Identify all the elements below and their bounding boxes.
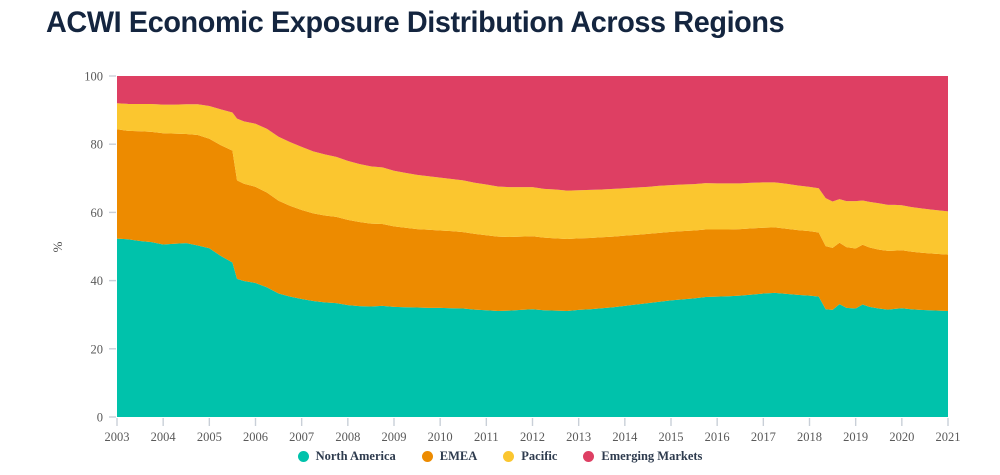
x-tick-label: 2017: [751, 430, 776, 444]
x-tick-label: 2007: [289, 430, 314, 444]
x-tick-label: 2013: [566, 430, 591, 444]
legend-item-north-america[interactable]: North America: [298, 449, 396, 464]
x-tick-label: 2012: [520, 430, 545, 444]
legend-swatch-icon: [583, 451, 594, 462]
x-tick-label: 2021: [936, 430, 961, 444]
x-tick-label: 2020: [889, 430, 914, 444]
legend-label: Emerging Markets: [601, 449, 702, 464]
x-tick-label: 2009: [382, 430, 407, 444]
x-tick-label: 2005: [197, 430, 222, 444]
legend-swatch-icon: [298, 451, 309, 462]
legend-swatch-icon: [503, 451, 514, 462]
y-tick-label: 20: [91, 342, 104, 356]
chart-areas: [117, 76, 948, 417]
x-tick-label: 2004: [151, 430, 177, 444]
legend-item-emea[interactable]: EMEA: [422, 449, 478, 464]
x-tick-label: 2019: [843, 430, 868, 444]
legend-label: North America: [316, 449, 396, 464]
legend-item-emerging-markets[interactable]: Emerging Markets: [583, 449, 702, 464]
y-tick-label: 80: [91, 138, 104, 152]
x-tick-label: 2011: [474, 430, 499, 444]
x-tick-label: 2008: [335, 430, 360, 444]
legend-swatch-icon: [422, 451, 433, 462]
stacked-area-chart: 0204060801002003200420052006200720082009…: [0, 0, 1000, 445]
x-tick-label: 2014: [612, 430, 638, 444]
x-tick-label: 2015: [659, 430, 684, 444]
x-tick-label: 2006: [243, 430, 268, 444]
x-tick-label: 2010: [428, 430, 453, 444]
y-tick-label: 100: [84, 70, 103, 84]
y-tick-label: 0: [97, 411, 103, 425]
chart-legend: North AmericaEMEAPacificEmerging Markets: [0, 449, 1000, 464]
chart-page: ACWI Economic Exposure Distribution Acro…: [0, 0, 1000, 475]
legend-label: EMEA: [440, 449, 478, 464]
x-tick-label: 2003: [105, 430, 130, 444]
legend-label: Pacific: [521, 449, 557, 464]
x-tick-label: 2018: [797, 430, 822, 444]
legend-item-pacific[interactable]: Pacific: [503, 449, 557, 464]
y-tick-label: 60: [91, 206, 104, 220]
y-tick-label: 40: [91, 274, 104, 288]
y-axis-title: %: [50, 241, 65, 252]
x-tick-label: 2016: [705, 430, 730, 444]
